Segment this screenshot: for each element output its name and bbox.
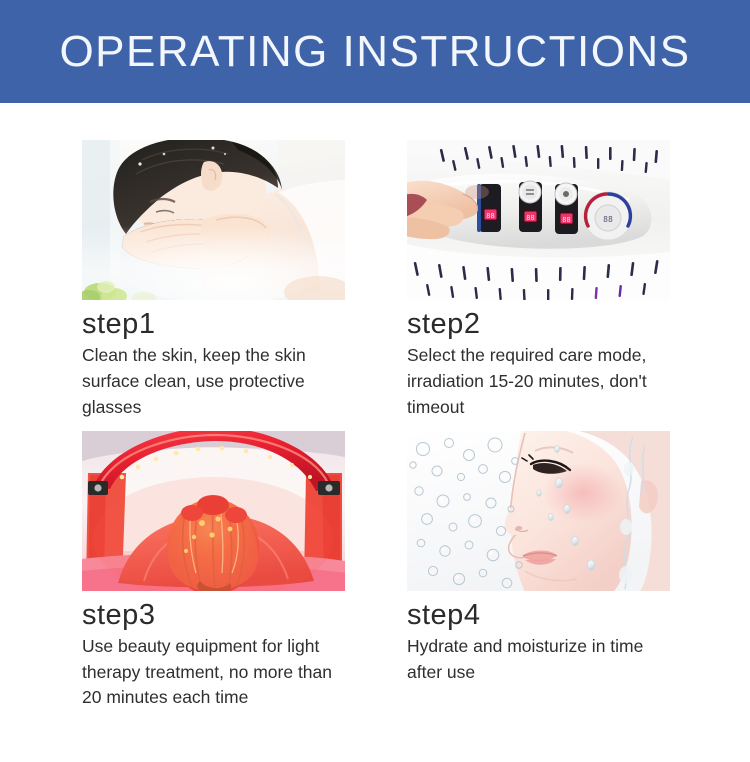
- page-header-banner: OPERATING INSTRUCTIONS: [0, 0, 750, 103]
- steps-row-1: step1 Clean the skin, keep the skin surf…: [82, 140, 670, 421]
- steps-row-2: step3 Use beauty equipment for light the…: [82, 431, 670, 712]
- step-description: Select the required care mode, irradiati…: [407, 343, 670, 420]
- operating-instructions-page: OPERATING INSTRUCTIONS: [0, 0, 750, 762]
- device-control-panel-photo: 88 88: [407, 140, 670, 300]
- page-title: OPERATING INSTRUCTIONS: [59, 30, 690, 74]
- step-label: step4: [407, 599, 670, 632]
- svg-text:88: 88: [486, 212, 494, 220]
- step-label: step1: [82, 308, 345, 341]
- step-label: step3: [82, 599, 345, 632]
- steps-grid: step1 Clean the skin, keep the skin surf…: [82, 140, 670, 711]
- svg-text:88: 88: [603, 215, 613, 224]
- step-description: Use beauty equipment for light therapy t…: [82, 634, 345, 711]
- step-description: Clean the skin, keep the skin surface cl…: [82, 343, 345, 420]
- svg-text:88: 88: [526, 214, 534, 222]
- step-card-3: step3 Use beauty equipment for light the…: [82, 431, 345, 712]
- step-description: Hydrate and moisturize in time after use: [407, 634, 670, 685]
- woman-washing-face-illustration: [82, 140, 345, 300]
- step-card-4: step4 Hydrate and moisturize in time aft…: [407, 431, 670, 712]
- device-control-panel-illustration: 88 88: [407, 140, 670, 300]
- hydrated-face-photo: [407, 431, 670, 591]
- red-light-therapy-illustration: [82, 431, 345, 591]
- step-card-2: 88 88: [407, 140, 670, 421]
- woman-washing-face-photo: [82, 140, 345, 300]
- step-label: step2: [407, 308, 670, 341]
- svg-text:88: 88: [562, 216, 570, 224]
- step-card-1: step1 Clean the skin, keep the skin surf…: [82, 140, 345, 421]
- red-light-therapy-photo: [82, 431, 345, 591]
- hydrated-face-illustration: [407, 431, 670, 591]
